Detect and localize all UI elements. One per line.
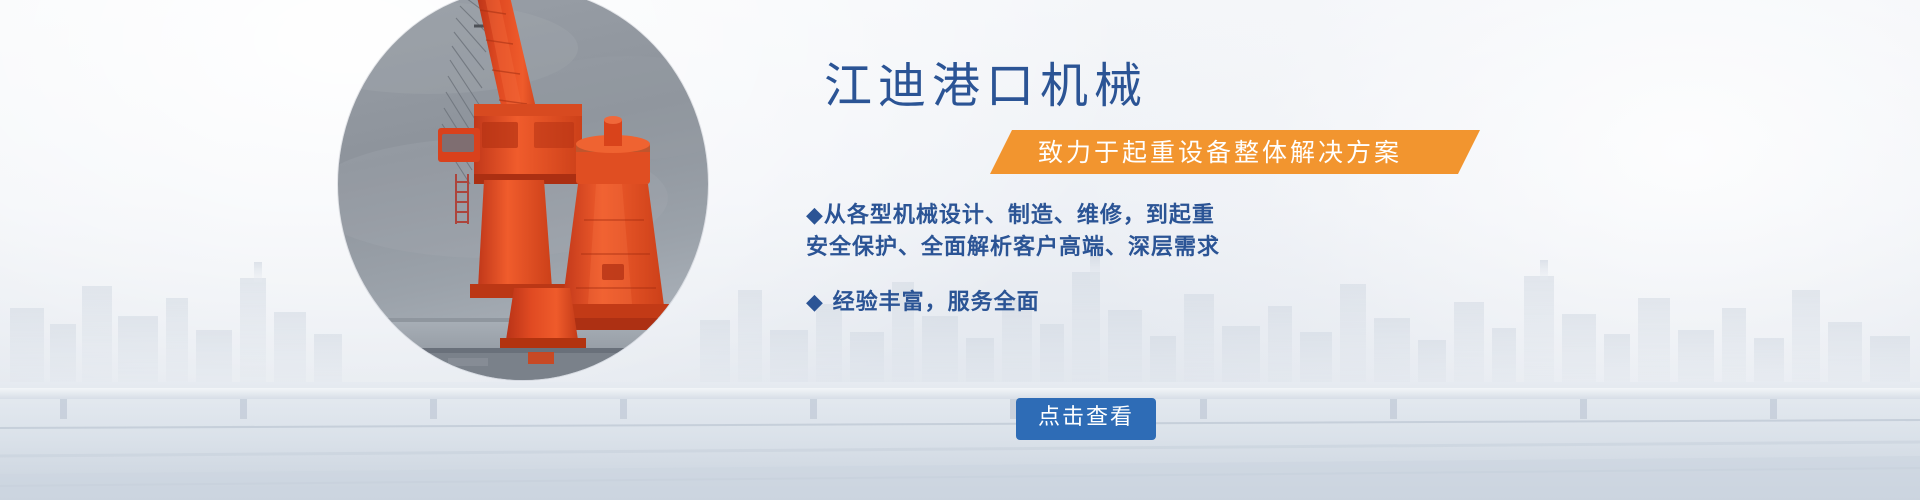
view-details-button[interactable]: 点击查看 [1016, 398, 1156, 440]
hero-banner: 江迪港口机械 致力于起重设备整体解决方案 ◆从各型机械设计、制造、维修，到起重 … [0, 0, 1920, 500]
feature-list: ◆从各型机械设计、制造、维修，到起重 安全保护、全面解析客户高端、深层需求 ◆ … [806, 200, 1446, 318]
feature-item-1-line-1: ◆从各型机械设计、制造、维修，到起重 [806, 200, 1446, 232]
feature-item-2: ◆ 经验丰富，服务全面 [806, 288, 1446, 318]
page-title: 江迪港口机械 [824, 62, 1148, 110]
banner-copy: 江迪港口机械 致力于起重设备整体解决方案 ◆从各型机械设计、制造、维修，到起重 … [0, 0, 1920, 500]
feature-item-1-line-2: 安全保护、全面解析客户高端、深层需求 [806, 232, 1446, 264]
tagline-text: 致力于起重设备整体解决方案 [1038, 140, 1402, 165]
feature-item-1: ◆从各型机械设计、制造、维修，到起重 安全保护、全面解析客户高端、深层需求 [806, 200, 1446, 264]
tagline-ribbon: 致力于起重设备整体解决方案 [990, 130, 1480, 174]
